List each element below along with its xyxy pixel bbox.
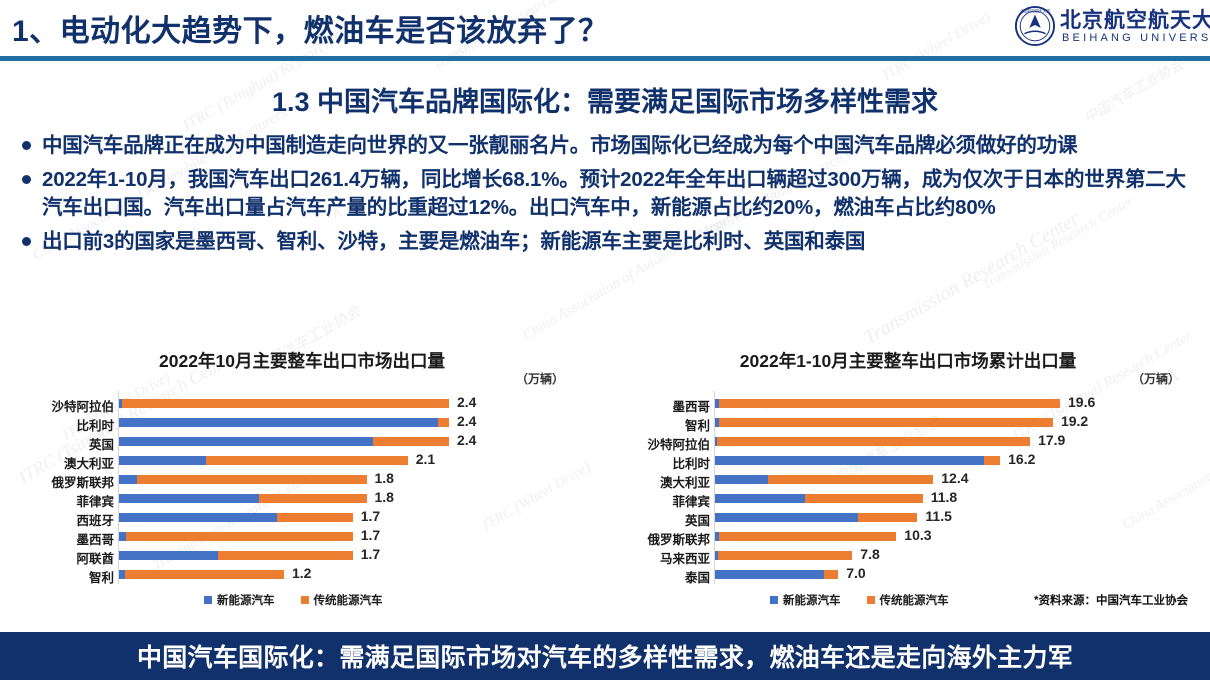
bullet-text: 2022年1-10月，我国汽车出口261.4万辆，同比增长68.1%。预计202… bbox=[42, 166, 1198, 221]
chart-unit-label: （万辆） bbox=[516, 370, 564, 387]
bar-value-label: 10.3 bbox=[904, 527, 931, 543]
bar-segment-conventional bbox=[137, 475, 367, 484]
chart-cumulative-exports: 2022年1-10月主要整车出口市场累计出口量 （万辆） 墨西哥19.6智利19… bbox=[622, 348, 1194, 616]
stacked-bar bbox=[119, 437, 449, 446]
category-label: 阿联酋 bbox=[18, 548, 114, 567]
category-label: 马来西亚 bbox=[622, 548, 710, 567]
stacked-bar bbox=[715, 475, 933, 484]
category-label: 英国 bbox=[622, 510, 710, 529]
bullet-item: 中国汽车品牌正在成为中国制造走向世界的又一张靓丽名片。市场国际化已经成为每个中国… bbox=[16, 132, 1198, 159]
bar-segment-new-energy bbox=[119, 513, 277, 522]
stacked-bar bbox=[119, 475, 367, 484]
stacked-bar bbox=[119, 418, 449, 427]
stacked-bar bbox=[715, 532, 896, 541]
chart-monthly-exports: 2022年10月主要整车出口市场出口量 （万辆） 沙特阿拉伯2.4比利时2.4英… bbox=[18, 348, 586, 616]
bar-segment-conventional bbox=[438, 418, 449, 427]
category-label: 西班牙 bbox=[18, 510, 114, 529]
bar-value-label: 7.8 bbox=[860, 546, 879, 562]
bar-value-label: 7.0 bbox=[846, 565, 865, 581]
legend-item-conventional: 传统能源汽车 bbox=[301, 592, 383, 608]
section-subtitle: 1.3 中国汽车品牌国际化：需要满足国际市场多样性需求 bbox=[0, 80, 1210, 119]
stacked-bar bbox=[715, 570, 838, 579]
bar-segment-conventional bbox=[858, 513, 918, 522]
bar-value-label: 1.2 bbox=[292, 565, 311, 581]
stacked-bar bbox=[715, 418, 1053, 427]
bar-value-label: 2.4 bbox=[457, 413, 476, 429]
category-label: 比利时 bbox=[18, 415, 114, 434]
bar-segment-new-energy bbox=[119, 437, 373, 446]
category-label: 俄罗斯联邦 bbox=[18, 472, 114, 491]
category-label: 墨西哥 bbox=[622, 396, 710, 415]
bullet-text: 出口前3的国家是墨西哥、智利、沙特，主要是燃油车；新能源车主要是比利时、英国和泰… bbox=[42, 228, 865, 255]
bar-segment-conventional bbox=[719, 418, 1053, 427]
legend-label-new-energy: 新能源汽车 bbox=[217, 592, 275, 608]
bar-segment-new-energy bbox=[715, 475, 768, 484]
plot-area: 沙特阿拉伯2.4比利时2.4英国2.4澳大利亚2.1俄罗斯联邦1.8菲律宾1.8… bbox=[18, 391, 586, 581]
page-title: 1、电动化大趋势下，燃油车是否该放弃了？ bbox=[12, 6, 609, 50]
bar-segment-conventional bbox=[125, 570, 285, 579]
bar-value-label: 2.4 bbox=[457, 432, 476, 448]
stacked-bar bbox=[715, 399, 1060, 408]
bar-segment-conventional bbox=[259, 494, 366, 503]
bar-segment-conventional bbox=[277, 513, 353, 522]
bar-segment-conventional bbox=[717, 437, 1030, 446]
bar-value-label: 17.9 bbox=[1038, 432, 1065, 448]
category-label: 智利 bbox=[622, 415, 710, 434]
legend-swatch-new-energy-icon bbox=[770, 596, 778, 604]
bullet-text: 中国汽车品牌正在成为中国制造走向世界的又一张靓丽名片。市场国际化已经成为每个中国… bbox=[42, 132, 1077, 159]
slide-footer-banner: 中国汽车国际化：需满足国际市场对汽车的多样性需求，燃油车还是走向海外主力军 bbox=[0, 632, 1210, 680]
bar-segment-conventional bbox=[805, 494, 923, 503]
bar-segment-conventional bbox=[719, 532, 897, 541]
bullet-item: 出口前3的国家是墨西哥、智利、沙特，主要是燃油车；新能源车主要是比利时、英国和泰… bbox=[16, 228, 1198, 255]
stacked-bar bbox=[119, 532, 353, 541]
legend-swatch-conventional-icon bbox=[867, 596, 875, 604]
bar-value-label: 19.2 bbox=[1061, 413, 1088, 429]
bar-value-label: 19.6 bbox=[1068, 394, 1095, 410]
bar-value-label: 11.5 bbox=[925, 508, 951, 524]
legend-item-conventional: 传统能源汽车 bbox=[867, 592, 949, 608]
stacked-bar bbox=[119, 456, 408, 465]
plot-area: 墨西哥19.6智利19.2沙特阿拉伯17.9比利时16.2澳大利亚12.4菲律宾… bbox=[622, 391, 1194, 581]
bullet-dot-icon bbox=[22, 237, 31, 246]
bar-value-label: 1.8 bbox=[375, 470, 394, 486]
stacked-bar bbox=[119, 551, 353, 560]
bar-segment-new-energy bbox=[715, 456, 984, 465]
header-divider bbox=[0, 56, 1210, 61]
bar-segment-new-energy bbox=[119, 475, 137, 484]
bar-segment-new-energy bbox=[119, 456, 206, 465]
bar-value-label: 11.8 bbox=[931, 489, 957, 505]
category-label: 比利时 bbox=[622, 453, 710, 472]
bar-segment-new-energy bbox=[715, 570, 824, 579]
logo-chinese-name: 北京航空航天大学 bbox=[1060, 4, 1210, 34]
chart-legend: 新能源汽车 传统能源汽车 bbox=[770, 592, 949, 608]
bar-segment-new-energy bbox=[715, 513, 858, 522]
bar-segment-conventional bbox=[218, 551, 353, 560]
stacked-bar bbox=[715, 551, 852, 560]
source-note: *资料来源：中国汽车工业协会 bbox=[1034, 592, 1188, 608]
category-label: 泰国 bbox=[622, 567, 710, 586]
category-label: 菲律宾 bbox=[622, 491, 710, 510]
bar-value-label: 1.7 bbox=[361, 546, 380, 562]
bar-segment-conventional bbox=[206, 456, 408, 465]
legend-label-conventional: 传统能源汽车 bbox=[314, 592, 383, 608]
bar-segment-conventional bbox=[719, 399, 1060, 408]
legend-item-new-energy: 新能源汽车 bbox=[770, 592, 841, 608]
stacked-bar bbox=[119, 399, 449, 408]
bullet-list: 中国汽车品牌正在成为中国制造走向世界的又一张靓丽名片。市场国际化已经成为每个中国… bbox=[16, 132, 1198, 262]
category-label: 墨西哥 bbox=[18, 529, 114, 548]
bar-segment-new-energy bbox=[715, 494, 805, 503]
bar-value-label: 16.2 bbox=[1008, 451, 1035, 467]
bar-segment-conventional bbox=[373, 437, 449, 446]
legend-label-new-energy: 新能源汽车 bbox=[783, 592, 841, 608]
category-label: 智利 bbox=[18, 567, 114, 586]
bar-segment-conventional bbox=[122, 399, 449, 408]
bar-segment-new-energy bbox=[119, 418, 438, 427]
category-label: 澳大利亚 bbox=[622, 472, 710, 491]
category-label: 俄罗斯联邦 bbox=[622, 529, 710, 548]
category-label: 沙特阿拉伯 bbox=[622, 434, 710, 453]
stacked-bar bbox=[119, 570, 284, 579]
bar-segment-new-energy bbox=[119, 551, 218, 560]
stacked-bar bbox=[119, 494, 367, 503]
chart-title: 2022年1-10月主要整车出口市场累计出口量 bbox=[622, 348, 1194, 373]
slide-header: 1、电动化大趋势下，燃油车是否该放弃了？ 北京航空航天大学 北京航空航天大学 B… bbox=[0, 0, 1210, 58]
bar-value-label: 12.4 bbox=[941, 470, 968, 486]
slide-root: ITRC (Tsinghua) Research CenterTransmiss… bbox=[0, 0, 1210, 680]
bar-segment-conventional bbox=[984, 456, 1000, 465]
footer-text: 中国汽车国际化：需满足国际市场对汽车的多样性需求，燃油车还是走向海外主力军 bbox=[137, 638, 1073, 674]
legend-swatch-conventional-icon bbox=[301, 596, 309, 604]
category-label: 澳大利亚 bbox=[18, 453, 114, 472]
chart-unit-label: （万辆） bbox=[1132, 370, 1180, 387]
stacked-bar bbox=[715, 513, 917, 522]
bar-segment-conventional bbox=[768, 475, 933, 484]
chart-title: 2022年10月主要整车出口市场出口量 bbox=[18, 348, 586, 373]
bar-segment-new-energy bbox=[119, 532, 126, 541]
stacked-bar bbox=[715, 494, 923, 503]
legend-swatch-new-energy-icon bbox=[204, 596, 212, 604]
legend-label-conventional: 传统能源汽车 bbox=[880, 592, 949, 608]
bar-segment-conventional bbox=[126, 532, 353, 541]
bar-value-label: 2.1 bbox=[416, 451, 435, 467]
bar-value-label: 2.4 bbox=[457, 394, 476, 410]
bar-segment-conventional bbox=[824, 570, 838, 579]
bar-segment-new-energy bbox=[119, 494, 259, 503]
category-label: 沙特阿拉伯 bbox=[18, 396, 114, 415]
legend-item-new-energy: 新能源汽车 bbox=[204, 592, 275, 608]
svg-text:北京航空航天大学: 北京航空航天大学 bbox=[1020, 9, 1051, 14]
category-label: 英国 bbox=[18, 434, 114, 453]
bullet-dot-icon bbox=[22, 141, 31, 150]
bar-value-label: 1.8 bbox=[375, 489, 394, 505]
university-logo: 北京航空航天大学 北京航空航天大学 BEIHANG UNIVERSITY bbox=[1014, 2, 1204, 52]
stacked-bar bbox=[715, 437, 1030, 446]
stacked-bar bbox=[715, 456, 1000, 465]
bullet-item: 2022年1-10月，我国汽车出口261.4万辆，同比增长68.1%。预计202… bbox=[16, 166, 1198, 221]
logo-english-name: BEIHANG UNIVERSITY bbox=[1062, 32, 1210, 44]
bar-segment-conventional bbox=[718, 551, 853, 560]
bar-value-label: 1.7 bbox=[361, 527, 380, 543]
beihang-emblem-icon: 北京航空航天大学 bbox=[1014, 5, 1056, 47]
bar-value-label: 1.7 bbox=[361, 508, 380, 524]
stacked-bar bbox=[119, 513, 353, 522]
chart-legend: 新能源汽车 传统能源汽车 bbox=[204, 592, 383, 608]
category-label: 菲律宾 bbox=[18, 491, 114, 510]
bullet-dot-icon bbox=[22, 175, 31, 184]
